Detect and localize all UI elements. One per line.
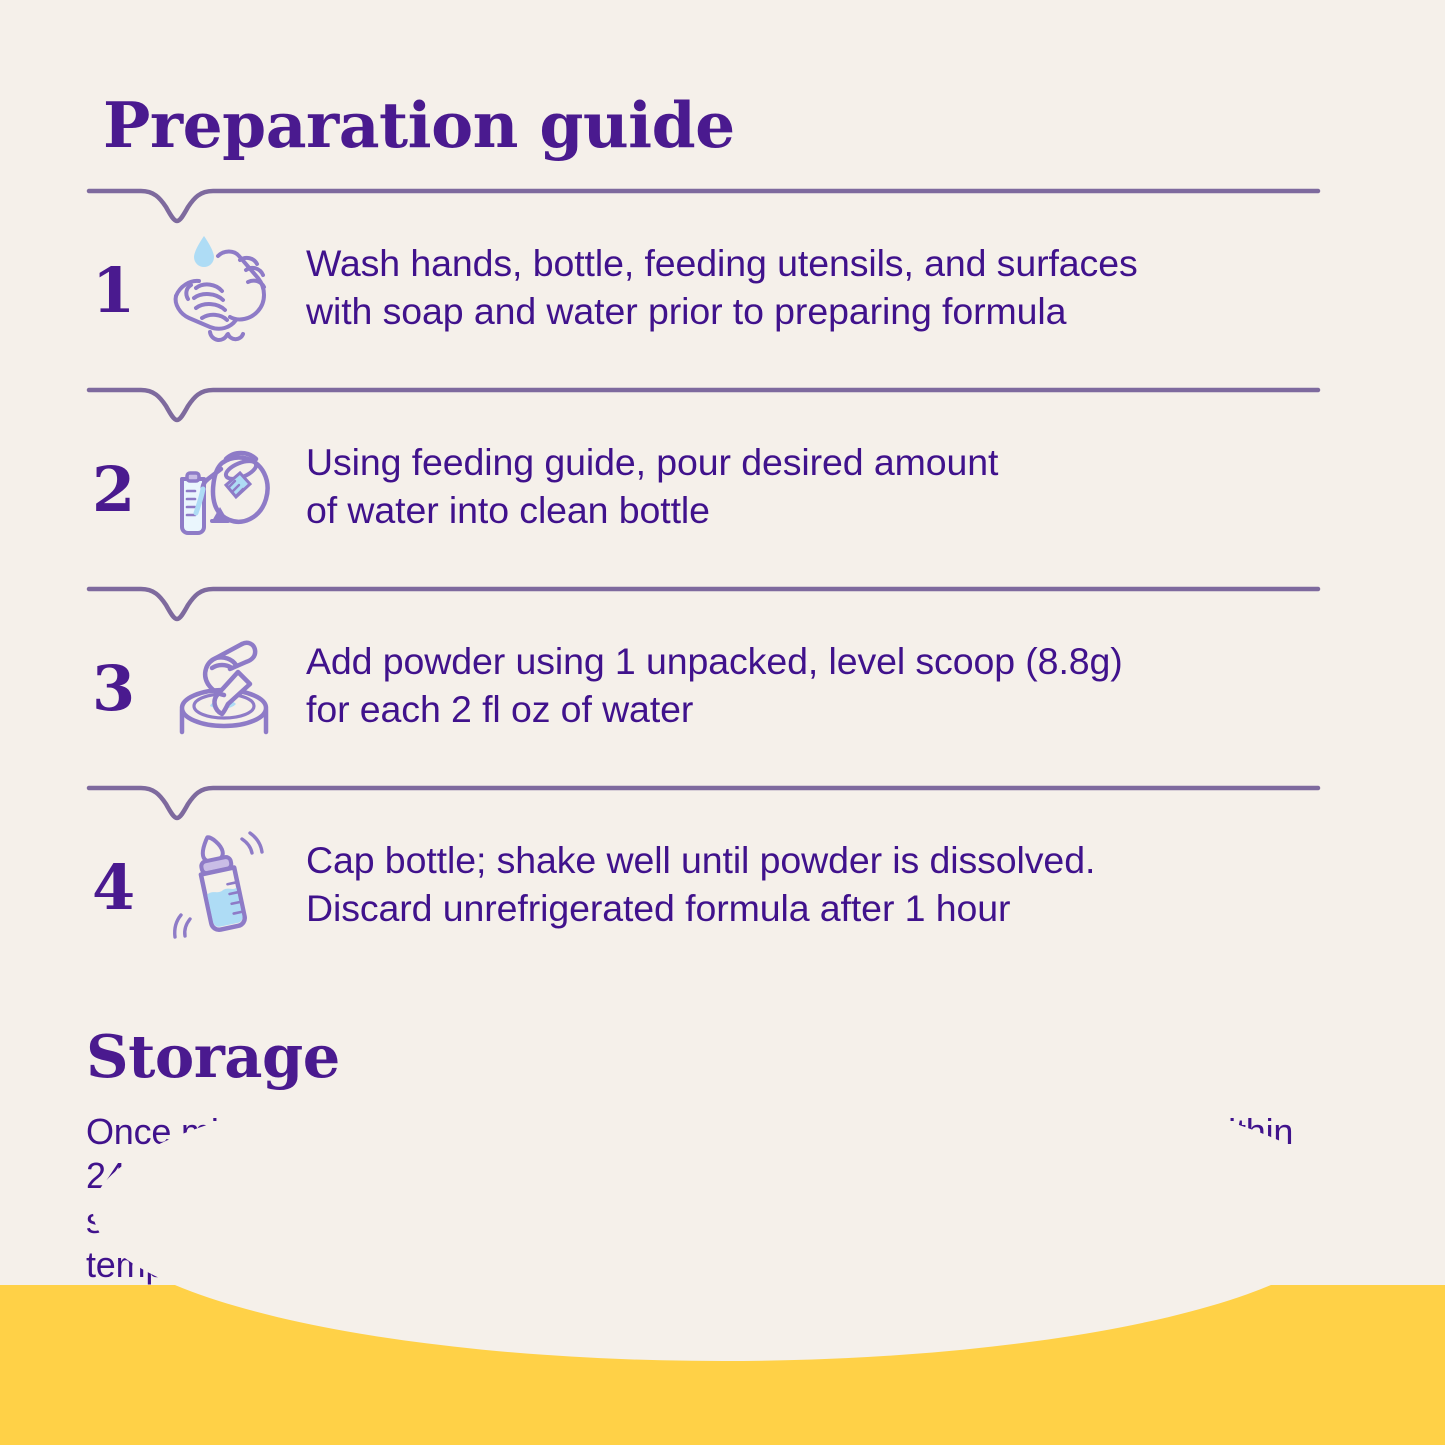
preparation-guide-page: Preparation guide 1 (0, 0, 1445, 1445)
step-text-line1: Wash hands, bottle, feeding utensils, an… (306, 242, 1138, 284)
step-item-4: 4 (0, 785, 1445, 984)
preparation-steps-list: 1 (0, 188, 1445, 984)
step-number: 4 (92, 851, 166, 919)
step-item-1: 1 (0, 188, 1445, 387)
page-title: Preparation guide (103, 92, 735, 158)
kettle-pouring-bottle-icon (166, 429, 282, 545)
bottom-arc-shape (93, 1061, 1353, 1361)
step-item-2: 2 (0, 387, 1445, 586)
step-text-line2: Discard unrefrigerated formula after 1 h… (306, 885, 1095, 933)
step-text-line1: Using feeding guide, pour desired amount (306, 441, 998, 483)
step-text: Using feeding guide, pour desired amount… (306, 439, 998, 534)
step-number: 3 (92, 652, 166, 720)
step-number: 1 (92, 254, 166, 322)
step-text: Add powder using 1 unpacked, level scoop… (306, 638, 1123, 733)
step-text-line1: Cap bottle; shake well until powder is d… (306, 839, 1095, 881)
shaking-bottle-icon (166, 827, 282, 943)
hand-washing-icon (166, 230, 282, 346)
hand-scoop-can-icon (166, 628, 282, 744)
step-number: 2 (92, 453, 166, 521)
step-text-line2: of water into clean bottle (306, 487, 998, 535)
step-text: Cap bottle; shake well until powder is d… (306, 837, 1095, 932)
step-text: Wash hands, bottle, feeding utensils, an… (306, 240, 1138, 335)
step-text-line2: for each 2 fl oz of water (306, 686, 1123, 734)
step-text-line2: with soap and water prior to preparing f… (306, 288, 1138, 336)
step-text-line1: Add powder using 1 unpacked, level scoop… (306, 640, 1123, 682)
storage-title: Storage (86, 1026, 340, 1088)
step-item-3: 3 (0, 586, 1445, 785)
